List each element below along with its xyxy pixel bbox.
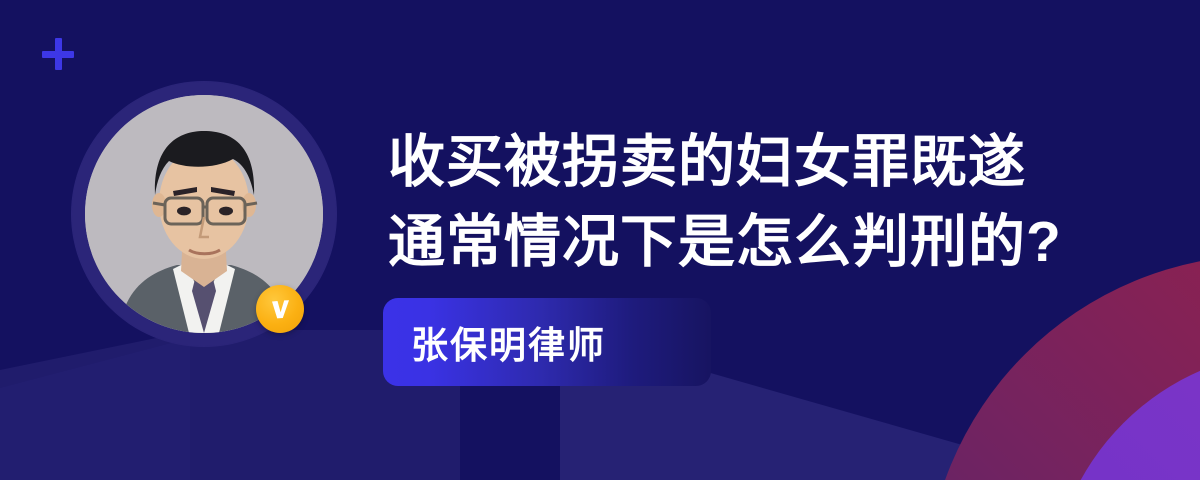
avatar [72,82,336,382]
headline-line-1: 收买被拐卖的妇女罪既遂 [388,122,1178,202]
lawyer-name-badge[interactable]: 张保明律师 [383,298,711,386]
page-title: 收买被拐卖的妇女罪既遂 通常情况下是怎么判刑的? [388,122,1178,282]
verified-badge-icon [256,285,304,333]
lawyer-qa-banner: 收买被拐卖的妇女罪既遂 通常情况下是怎么判刑的? 张保明律师 [0,0,1200,480]
lawyer-name-label: 张保明律师 [411,315,606,369]
headline-line-2: 通常情况下是怎么判刑的? [388,202,1178,282]
headline-block: 收买被拐卖的妇女罪既遂 通常情况下是怎么判刑的? [388,122,1178,282]
plus-icon [42,38,74,70]
